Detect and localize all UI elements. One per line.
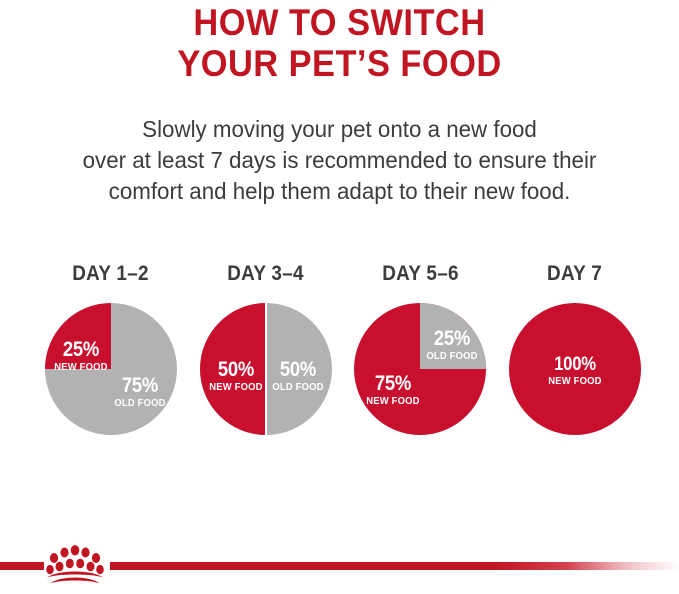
pie-chart-day-5-6: 25% OLD FOOD 75% NEW FOOD bbox=[354, 303, 486, 435]
footer bbox=[0, 540, 679, 594]
crown-logo-svg bbox=[42, 544, 108, 588]
pie-svg-3 bbox=[354, 303, 486, 435]
title-line-1: HOW TO SWITCH bbox=[24, 2, 655, 43]
pie-cell-day-7: DAY 7 100% NEW FOOD bbox=[500, 262, 650, 435]
pie-chart-day-1-2: 25% NEW FOOD 75% OLD FOOD bbox=[45, 303, 177, 435]
intro-paragraph: Slowly moving your pet onto a new food o… bbox=[0, 114, 679, 207]
intro-line-1: Slowly moving your pet onto a new food bbox=[17, 114, 662, 145]
pie-svg-4 bbox=[509, 303, 641, 435]
day-label-3: DAY 5–6 bbox=[382, 262, 459, 286]
pie-cell-day-1-2: DAY 1–2 25% NEW FOOD 75% OLD FOOD bbox=[36, 262, 186, 435]
crown-icon bbox=[42, 544, 108, 588]
pie-chart-day-7: 100% NEW FOOD bbox=[509, 303, 641, 435]
pie-svg-2 bbox=[200, 303, 332, 435]
page-title: HOW TO SWITCH YOUR PET’S FOOD bbox=[0, 2, 679, 84]
pie-cell-day-5-6: DAY 5–6 25% OLD FOOD 75% NEW FOOD bbox=[345, 262, 495, 435]
title-line-2: YOUR PET’S FOOD bbox=[24, 43, 655, 84]
pie-svg-1 bbox=[45, 303, 177, 435]
day-label-4: DAY 7 bbox=[547, 262, 602, 286]
pie-chart-day-3-4: 50% NEW FOOD 50% OLD FOOD bbox=[200, 303, 332, 435]
intro-line-2: over at least 7 days is recommended to e… bbox=[17, 145, 662, 176]
intro-line-3: comfort and help them adapt to their new… bbox=[17, 176, 662, 207]
day-label-2: DAY 3–4 bbox=[227, 262, 304, 286]
footer-rule-left bbox=[0, 562, 44, 570]
pie-cell-day-3-4: DAY 3–4 50% NEW FOOD 50% OLD FOOD bbox=[191, 262, 341, 435]
footer-rule-right bbox=[110, 562, 679, 570]
pie-chart-row: DAY 1–2 25% NEW FOOD 75% OLD FOOD DAY 3–… bbox=[36, 262, 650, 435]
day-label-1: DAY 1–2 bbox=[73, 262, 150, 286]
